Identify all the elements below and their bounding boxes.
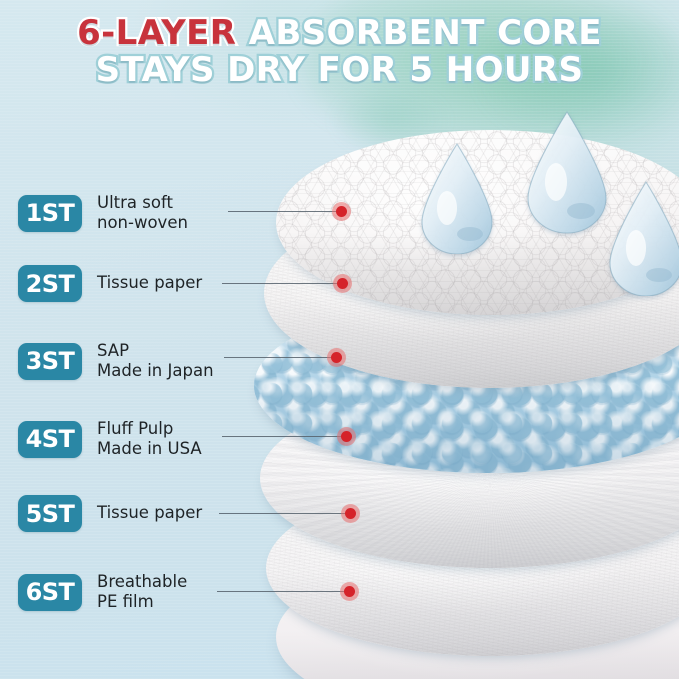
layer-badge-4: 4ST (18, 421, 82, 458)
layer-badge-6: 6ST (18, 574, 82, 611)
layer-badge-3: 3ST (18, 343, 82, 380)
layer-legend-list: 1ST Ultra soft non-woven 2ST Tissue pape… (0, 0, 679, 679)
headline-line-1-rest: ABSORBENT CORE (249, 13, 602, 53)
headline-line-2-text: STAYS DRY FOR 5 HOURS (96, 50, 584, 90)
layer-label-2: Tissue paper (97, 273, 202, 293)
layer-label-6: Breathable PE film (97, 572, 187, 612)
layer-legend-item-6[interactable]: 6ST Breathable PE film (18, 572, 187, 612)
headline-line-2: STAYS DRY FOR 5 HOURS (0, 53, 679, 88)
layer-label-5: Tissue paper (97, 503, 202, 523)
headline-block: 6-LAYER ABSORBENT CORE STAYS DRY FOR 5 H… (0, 16, 679, 87)
layer-legend-item-5[interactable]: 5ST Tissue paper (18, 495, 202, 532)
layer-legend-item-1[interactable]: 1ST Ultra soft non-woven (18, 193, 188, 233)
headline-highlight: 6-LAYER (77, 13, 236, 53)
layer-legend-item-4[interactable]: 4ST Fluff Pulp Made in USA (18, 419, 202, 459)
headline-line-1: 6-LAYER ABSORBENT CORE (0, 16, 679, 51)
layer-badge-2: 2ST (18, 265, 82, 302)
layer-legend-item-2[interactable]: 2ST Tissue paper (18, 265, 202, 302)
layer-label-4: Fluff Pulp Made in USA (97, 419, 202, 459)
infographic-poster: 6-LAYER ABSORBENT CORE STAYS DRY FOR 5 H… (0, 0, 679, 679)
layer-badge-1: 1ST (18, 195, 82, 232)
layer-label-1: Ultra soft non-woven (97, 193, 188, 233)
layer-label-3: SAP Made in Japan (97, 341, 214, 381)
layer-badge-5: 5ST (18, 495, 82, 532)
layer-legend-item-3[interactable]: 3ST SAP Made in Japan (18, 341, 214, 381)
